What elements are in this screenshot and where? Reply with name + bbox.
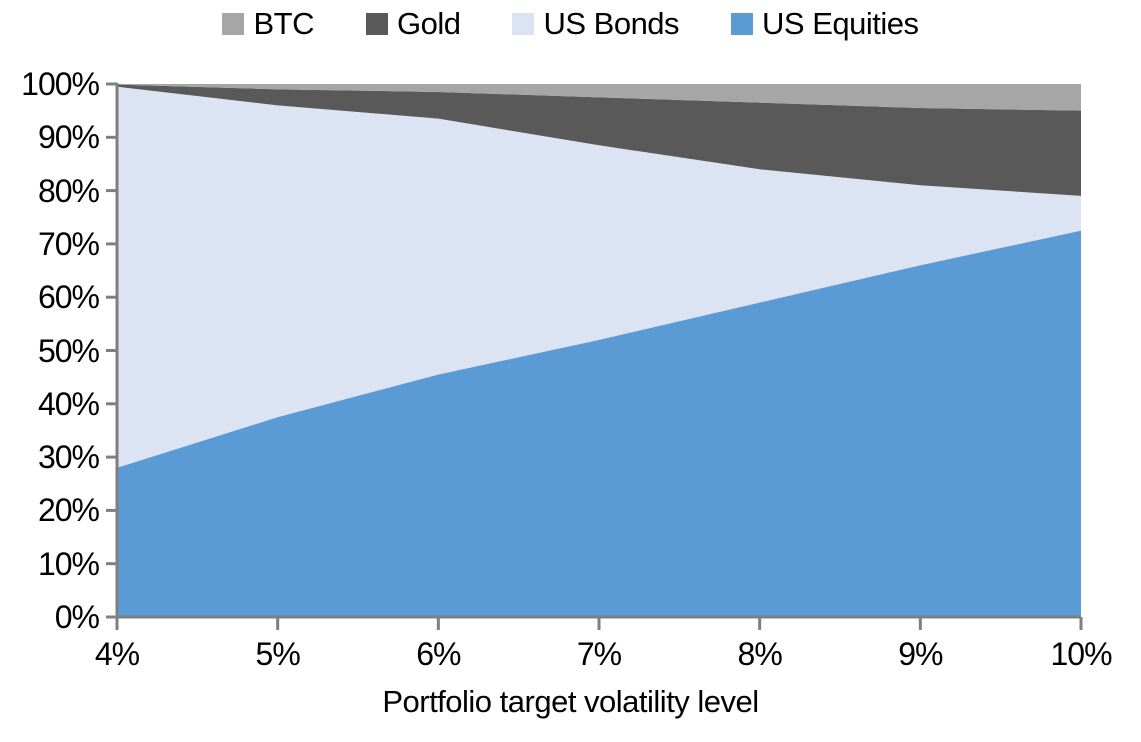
y-axis-tick-label: 20%	[0, 494, 99, 526]
y-axis-tick-label: 100%	[0, 68, 99, 100]
y-axis-tick-label: 0%	[0, 601, 99, 633]
y-axis-tick-label: 60%	[0, 281, 99, 313]
x-axis-tick-label: 6%	[368, 638, 508, 670]
x-axis-tick-label: 10%	[1011, 638, 1141, 670]
y-axis-tick-label: 90%	[0, 121, 99, 153]
y-axis-tick-label: 50%	[0, 335, 99, 367]
x-axis-title: Portfolio target volatility level	[0, 686, 1141, 717]
y-axis-tick-label: 80%	[0, 175, 99, 207]
x-axis-tick-label: 5%	[208, 638, 348, 670]
y-axis-tick-label: 10%	[0, 548, 99, 580]
x-axis-tick-label: 8%	[690, 638, 830, 670]
y-axis-tick-label: 70%	[0, 228, 99, 260]
plot-area	[0, 0, 1141, 742]
x-axis-tick-label: 7%	[529, 638, 669, 670]
x-axis-tick-label: 4%	[47, 638, 187, 670]
x-axis-tick-label: 9%	[850, 638, 990, 670]
y-axis-tick-label: 40%	[0, 388, 99, 420]
stacked-area-plot	[0, 0, 1141, 742]
y-axis-tick-label: 30%	[0, 441, 99, 473]
chart-container: BTC Gold US Bonds US Equities 0%10%20%30…	[0, 0, 1141, 742]
